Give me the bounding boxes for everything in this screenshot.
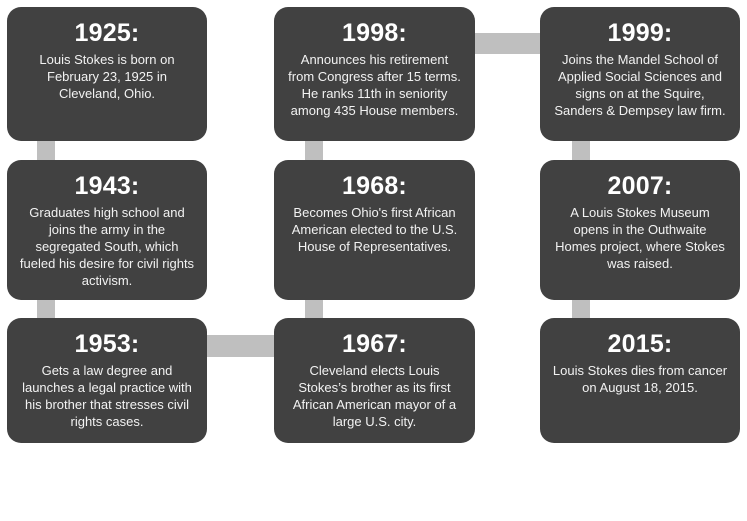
timeline-infographic: 1925: Louis Stokes is born on February 2… [0, 0, 747, 521]
timeline-card-year: 1967: [342, 330, 407, 358]
timeline-card-year: 1968: [342, 172, 407, 200]
timeline-card-year: 1925: [75, 19, 140, 47]
timeline-card-text: Louis Stokes is born on February 23, 192… [19, 52, 195, 103]
timeline-card-1968[interactable]: 1968: Becomes Ohio's first African Ameri… [274, 160, 475, 300]
timeline-card-year: 1999: [608, 19, 673, 47]
timeline-card-year: 2015: [608, 330, 673, 358]
timeline-card-1953[interactable]: 1953: Gets a law degree and launches a l… [7, 318, 207, 443]
timeline-card-year: 2007: [608, 172, 673, 200]
timeline-card-text: Cleveland elects Louis Stokes’s brother … [286, 363, 463, 431]
timeline-card-text: Joins the Mandel School of Applied Socia… [552, 52, 728, 120]
timeline-card-text: Graduates high school and joins the army… [19, 205, 195, 289]
timeline-card-1999[interactable]: 1999: Joins the Mandel School of Applied… [540, 7, 740, 141]
timeline-card-text: A Louis Stokes Museum opens in the Outhw… [552, 205, 728, 273]
timeline-card-year: 1953: [75, 330, 140, 358]
timeline-card-year: 1943: [75, 172, 140, 200]
timeline-card-1925[interactable]: 1925: Louis Stokes is born on February 2… [7, 7, 207, 141]
timeline-card-text: Becomes Ohio's first African American el… [286, 205, 463, 256]
timeline-card-1998[interactable]: 1998: Announces his retirement from Cong… [274, 7, 475, 141]
timeline-card-text: Louis Stokes dies from cancer on August … [552, 363, 728, 397]
timeline-card-year: 1998: [342, 19, 407, 47]
connector-1953-to-1967 [204, 335, 277, 357]
timeline-card-2007[interactable]: 2007: A Louis Stokes Museum opens in the… [540, 160, 740, 300]
connector-1998-to-1999 [472, 33, 543, 54]
timeline-card-1943[interactable]: 1943: Graduates high school and joins th… [7, 160, 207, 300]
timeline-card-text: Gets a law degree and launches a legal p… [19, 363, 195, 431]
timeline-card-2015[interactable]: 2015: Louis Stokes dies from cancer on A… [540, 318, 740, 443]
timeline-card-1967[interactable]: 1967: Cleveland elects Louis Stokes’s br… [274, 318, 475, 443]
timeline-card-text: Announces his retirement from Congress a… [286, 52, 463, 120]
